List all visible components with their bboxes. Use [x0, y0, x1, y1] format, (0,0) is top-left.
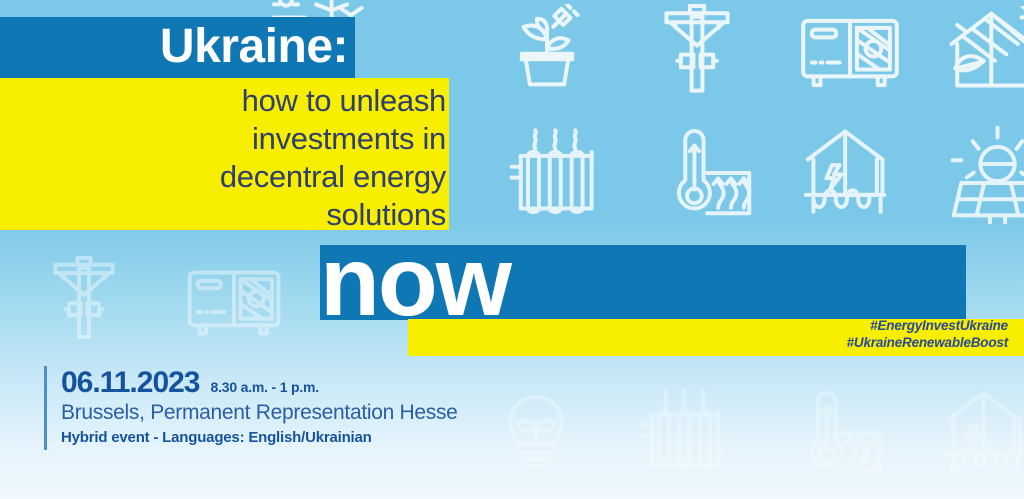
event-format: Hybrid event - Languages: English/Ukrain…	[61, 428, 458, 448]
radiator-icon	[508, 128, 608, 220]
subtitle-line-2: investments in	[30, 120, 446, 158]
subtitle-line-1: how to unleash	[30, 82, 446, 120]
event-details: 06.11.2023 8.30 a.m. - 1 p.m. Brussels, …	[44, 366, 458, 450]
hashtag-group: #EnergyInvestUkraine #UkraineRenewableBo…	[408, 317, 1008, 351]
page-title: Ukraine:	[0, 15, 352, 79]
eco-house-solar-icon	[944, 6, 1024, 96]
power-pole-icon	[42, 254, 126, 346]
event-location: Brussels, Permanent Representation Hesse	[61, 399, 458, 427]
event-date-row: 06.11.2023 8.30 a.m. - 1 p.m.	[61, 366, 458, 399]
thermometer-underfloor-icon	[790, 388, 882, 478]
thermometer-underfloor-icon	[656, 126, 752, 220]
event-time: 8.30 a.m. - 1 p.m.	[211, 379, 319, 395]
house-lightning-geothermal-icon	[940, 386, 1024, 480]
hashtag-ukraine-renewable-boost: #UkraineRenewableBoost	[408, 334, 1008, 351]
heat-pump-icon	[184, 266, 284, 340]
heat-pump-icon	[798, 14, 902, 92]
subtitle-line-3: decentral energy	[30, 158, 446, 196]
plant-plug-icon	[502, 4, 592, 100]
solar-panel-sun-icon	[948, 124, 1024, 224]
lightbulb-leaf-icon	[490, 392, 582, 478]
hashtag-energy-invest-ukraine: #EnergyInvestUkraine	[408, 317, 1008, 334]
radiator-icon	[640, 388, 734, 476]
headline-subtitle: how to unleash investments in decentral …	[30, 82, 446, 234]
power-pole-icon	[652, 2, 742, 100]
event-date: 06.11.2023	[61, 366, 200, 399]
event-banner: Ukraine: how to unleash investments in d…	[0, 0, 1024, 499]
house-lightning-geothermal-icon	[800, 124, 908, 222]
